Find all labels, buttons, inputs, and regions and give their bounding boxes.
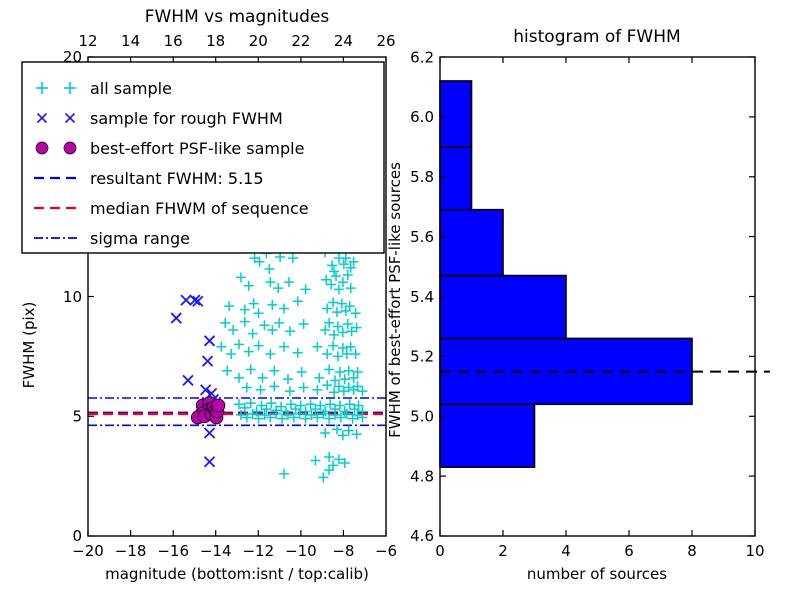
x-tick-label: 6 — [624, 542, 634, 560]
y-tick-label: 4.8 — [410, 467, 434, 485]
bottom-tick-label: −16 — [157, 542, 189, 560]
histogram-bar — [440, 147, 472, 210]
y-tick-label: 6.2 — [410, 48, 434, 66]
y-tick-label: 0 — [72, 527, 82, 545]
bottom-tick-label: −18 — [115, 542, 147, 560]
y-tick-label: 6.0 — [410, 108, 434, 126]
left-yaxis-label: FWHM (pix) — [20, 302, 38, 389]
legend-label: sigma range — [90, 229, 190, 248]
legend-label: all sample — [90, 79, 172, 98]
bottom-tick-label: −8 — [332, 542, 354, 560]
right-panel-title: histogram of FWHM — [513, 27, 680, 47]
right-y-axis-ticklabels: 4.6 4.8 5.0 5.2 5.4 5.6 5.8 6.0 6.2 — [410, 48, 434, 545]
top-tick-label: 20 — [249, 32, 268, 50]
right-xaxis-label: number of sources — [527, 565, 667, 583]
top-tick-label: 16 — [164, 32, 183, 50]
y-tick-label: 5.2 — [410, 348, 434, 366]
y-tick-label: 10 — [63, 288, 82, 306]
top-tick-label: 24 — [334, 32, 353, 50]
y-tick-label: 4.6 — [410, 527, 434, 545]
left-xaxis-label: magnitude (bottom:isnt / top:calib) — [105, 565, 369, 583]
bottom-tick-label: −10 — [285, 542, 317, 560]
left-panel-title: FWHM vs magnitudes — [145, 7, 330, 27]
x-tick-label: 0 — [435, 542, 445, 560]
x-tick-label: 10 — [745, 542, 764, 560]
histogram-bar — [440, 404, 535, 467]
top-tick-label: 18 — [206, 32, 225, 50]
bottom-tick-label: −6 — [375, 542, 397, 560]
y-tick-label: 5.0 — [410, 408, 434, 426]
legend-label: median FHWM of sequence — [90, 199, 309, 218]
matplotlib-figure: FWHM vs magnitudes 12 14 16 18 20 22 24 … — [0, 0, 800, 600]
histogram-bar — [440, 81, 472, 147]
scatter-point-circle — [212, 399, 225, 412]
legend-box[interactable]: all sample sample for rough FWHM best-ef… — [22, 62, 384, 253]
x-tick-label: 8 — [687, 542, 697, 560]
y-tick-label: 5 — [72, 408, 82, 426]
histogram-bar — [440, 210, 503, 276]
legend-label: resultant FWHM: 5.15 — [90, 169, 264, 188]
bottom-tick-label: −14 — [200, 542, 232, 560]
y-tick-label: 5.8 — [410, 168, 434, 186]
y-tick-label: 5.4 — [410, 288, 434, 306]
x-tick-label: 4 — [561, 542, 571, 560]
bottom-tick-label: −12 — [242, 542, 274, 560]
legend-label: best-effort PSF-like sample — [90, 139, 304, 158]
figure-canvas: FWHM vs magnitudes 12 14 16 18 20 22 24 … — [0, 0, 800, 600]
x-tick-label: 2 — [498, 542, 508, 560]
top-tick-label: 22 — [291, 32, 310, 50]
histogram-bar — [440, 276, 566, 339]
right-panel-histogram: histogram of FWHM — [386, 27, 770, 583]
top-tick-label: 14 — [121, 32, 140, 50]
top-tick-label: 26 — [376, 32, 395, 50]
right-yaxis-label: FWHM of best-effort PSF-like sources — [386, 162, 404, 438]
legend-label: sample for rough FWHM — [90, 109, 283, 128]
y-tick-label: 5.6 — [410, 228, 434, 246]
